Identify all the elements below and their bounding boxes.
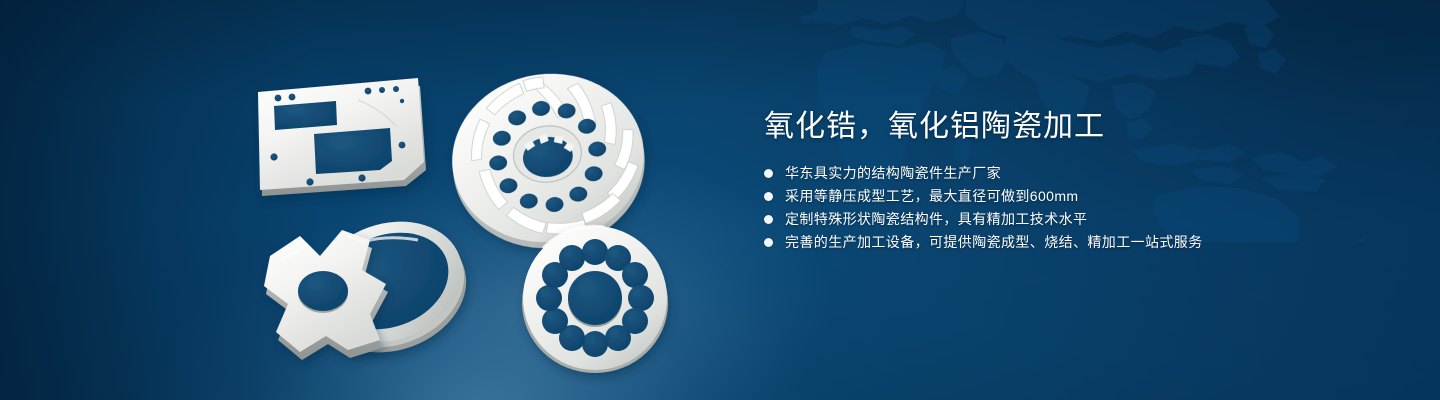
feature-list: 华东具实力的结构陶瓷件生产厂家 采用等静压成型工艺，最大直径可做到600mm 定… xyxy=(764,162,1364,254)
bullet-dot-icon xyxy=(764,215,773,224)
bullet-dot-icon xyxy=(764,238,773,247)
bullet-dot-icon xyxy=(764,169,773,178)
list-item: 采用等静压成型工艺，最大直径可做到600mm xyxy=(764,185,1364,208)
feature-text: 完善的生产加工设备，可提供陶瓷成型、烧结、精加工一站式服务 xyxy=(785,231,1203,254)
bullet-dot-icon xyxy=(764,192,773,201)
page-title: 氧化锆，氧化铝陶瓷加工 xyxy=(764,108,1364,146)
ceramic-cross-plate xyxy=(264,230,388,360)
banner-text-block: 氧化锆，氧化铝陶瓷加工 华东具实力的结构陶瓷件生产厂家 采用等静压成型工艺，最大… xyxy=(764,108,1364,254)
list-item: 定制特殊形状陶瓷结构件，具有精加工技术水平 xyxy=(764,208,1364,231)
ceramic-parts-photo xyxy=(230,30,710,380)
ceramic-impeller xyxy=(441,61,655,260)
list-item: 华东具实力的结构陶瓷件生产厂家 xyxy=(764,162,1364,185)
feature-text: 采用等静压成型工艺，最大直径可做到600mm xyxy=(785,185,1078,208)
ceramic-flat-plate xyxy=(258,78,426,196)
feature-text: 定制特殊形状陶瓷结构件，具有精加工技术水平 xyxy=(785,208,1087,231)
list-item: 完善的生产加工设备，可提供陶瓷成型、烧结、精加工一站式服务 xyxy=(764,231,1364,254)
feature-text: 华东具实力的结构陶瓷件生产厂家 xyxy=(785,162,1001,185)
hero-banner: 氧化锆，氧化铝陶瓷加工 华东具实力的结构陶瓷件生产厂家 采用等静压成型工艺，最大… xyxy=(0,0,1440,400)
ceramic-perforated-disc xyxy=(522,226,668,373)
